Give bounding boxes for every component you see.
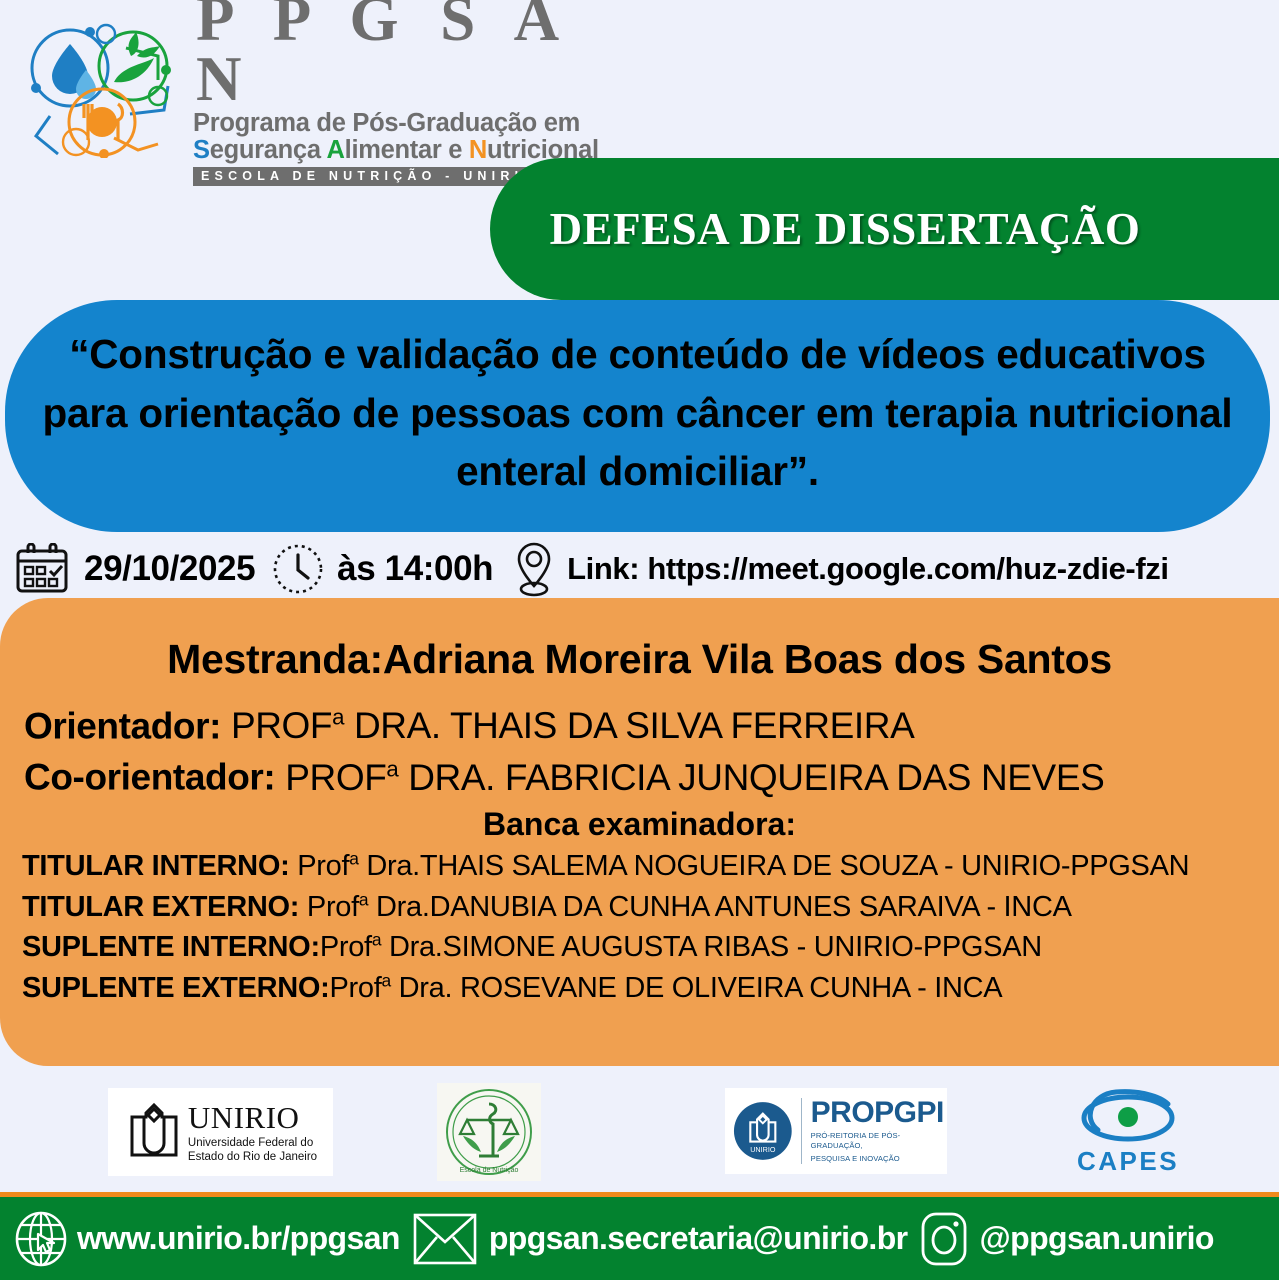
board-member-name: Profa Dra. ROSEVANE DE OLIVEIRA CUNHA - … [330, 972, 1003, 1004]
escola-nutricao-seal-icon: Escola de Nutrição [443, 1086, 535, 1178]
svg-text:Escola de Nutrição: Escola de Nutrição [460, 1167, 519, 1174]
propgpi-wordmark: PROPGPI [811, 1098, 947, 1128]
meeting-link[interactable]: Link: https://meet.google.com/huz-zdie-f… [567, 551, 1168, 587]
ppgsan-logo-mark [18, 18, 183, 158]
contact-footer: www.unirio.br/ppgsan ppgsan.secretaria@u… [0, 1197, 1279, 1280]
instagram-icon [917, 1210, 971, 1268]
propgpi-seal-label: UNIRIO [750, 1145, 776, 1154]
unirio-mark-icon [124, 1101, 184, 1163]
envelope-icon [412, 1211, 478, 1267]
event-date: 29/10/2025 [84, 549, 255, 589]
details-panel: Mestranda:Adriana Moreira Vila Boas dos … [0, 598, 1279, 1066]
propgpi-logo: UNIRIO PROPGPI PRÓ-REITORIA DE PÓS-GRADU… [725, 1088, 947, 1174]
propgpi-subtitle-2: PESQUISA E INOVAÇÃO [811, 1154, 947, 1164]
escola-nutricao-logo: Escola de Nutrição [437, 1083, 541, 1181]
capes-mark-icon [1068, 1084, 1188, 1148]
board-member-name: Profa Dra.THAIS SALEMA NOGUEIRA DE SOUZA… [289, 850, 1189, 882]
calendar-check-icon [14, 543, 70, 595]
board-member-row: TITULAR EXTERNO: Profa Dra.DANUBIA DA CU… [22, 887, 1265, 928]
globe-icon [14, 1210, 68, 1268]
ppgsan-logo: P P G S A N Programa de Pós-Graduação em… [18, 18, 518, 158]
board-member-row: TITULAR INTERNO: Profa Dra.THAIS SALEMA … [22, 846, 1265, 887]
student-line: Mestranda:Adriana Moreira Vila Boas dos … [14, 636, 1265, 683]
advisor-name: PROFa DRA. THAIS DA SILVA FERREIRA [231, 705, 914, 746]
advisor-line: Orientador: PROFa DRA. THAIS DA SILVA FE… [14, 705, 1265, 747]
dissertation-title-banner: “Construção e validação de conteúdo de v… [5, 300, 1270, 532]
student-name: Adriana Moreira Vila Boas dos Santos [383, 636, 1112, 682]
ppgsan-emblem-icon [18, 18, 183, 158]
board-member-row: SUPLENTE INTERNO:Profa Dra.SIMONE AUGUST… [22, 927, 1265, 968]
coadvisor-label: Co-orientador: [24, 757, 275, 798]
capes-logo: CAPES [1058, 1080, 1198, 1180]
map-pin-icon [511, 541, 557, 597]
unirio-wordmark: UNIRIO [188, 1100, 317, 1136]
board-member-name: Profa Dra.SIMONE AUGUSTA RIBAS - UNIRIO-… [320, 931, 1042, 963]
propgpi-unirio-seal-icon: UNIRIO [733, 1100, 793, 1162]
event-info-row: 29/10/2025 às 14:00h Link: https://meet.… [14, 540, 1274, 598]
board-member-name: Profa Dra.DANUBIA DA CUNHA ANTUNES SARAI… [299, 891, 1072, 923]
event-type-label: DEFESA DE DISSERTAÇÃO [550, 203, 1141, 255]
capes-wordmark: CAPES [1077, 1146, 1179, 1177]
unirio-subtitle-2: Estado do Rio de Janeiro [188, 1150, 317, 1164]
ppgsan-logo-line1: Programa de Pós-Graduação em [193, 110, 580, 137]
board-member-role: TITULAR EXTERNO: [22, 891, 299, 923]
coadvisor-name: PROFa DRA. FABRICIA JUNQUEIRA DAS NEVES [285, 757, 1104, 798]
board-title: Banca examinadora: [14, 806, 1265, 843]
dissertation-title: “Construção e validação de conteúdo de v… [31, 325, 1244, 501]
event-time: às 14:00h [337, 549, 493, 589]
footer-email[interactable]: ppgsan.secretaria@unirio.br [489, 1220, 908, 1257]
board-member-role: TITULAR INTERNO: [22, 850, 289, 882]
clock-icon [271, 542, 325, 596]
event-type-banner: DEFESA DE DISSERTAÇÃO [490, 158, 1279, 300]
ppgsan-logo-line2: Segurança Alimentar e Nutricional [193, 137, 599, 164]
footer-instagram[interactable]: @ppgsan.unirio [980, 1220, 1214, 1257]
propgpi-subtitle-1: PRÓ-REITORIA DE PÓS-GRADUAÇÃO, [811, 1131, 947, 1152]
board-list: TITULAR INTERNO: Profa Dra.THAIS SALEMA … [14, 846, 1265, 1010]
board-member-role: SUPLENTE INTERNO: [22, 931, 320, 963]
unirio-logo: UNIRIO Universidade Federal do Estado do… [108, 1088, 333, 1176]
board-member-row: SUPLENTE EXTERNO:Profa Dra. ROSEVANE DE … [22, 968, 1265, 1009]
student-role-label: Mestranda: [167, 636, 383, 682]
ppgsan-logo-text: P P G S A N Programa de Pós-Graduação em… [193, 0, 599, 186]
ppgsan-logo-line3: ESCOLA DE NUTRIÇÃO - UNIRIO [193, 167, 544, 186]
footer-website[interactable]: www.unirio.br/ppgsan [77, 1220, 400, 1257]
advisor-label: Orientador: [24, 705, 221, 746]
board-member-role: SUPLENTE EXTERNO: [22, 972, 330, 1004]
coadvisor-line: Co-orientador: PROFa DRA. FABRICIA JUNQU… [14, 756, 1265, 798]
unirio-subtitle-1: Universidade Federal do [188, 1136, 317, 1150]
ppgsan-acronym: P P G S A N [193, 0, 599, 110]
